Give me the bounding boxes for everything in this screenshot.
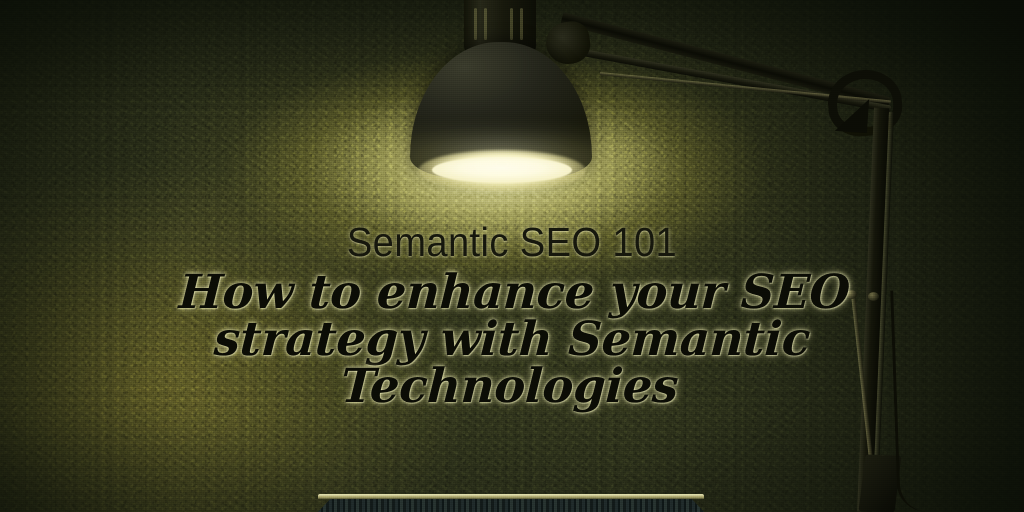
lamp-post-base [859, 454, 902, 512]
lamp-bulb [432, 157, 572, 183]
banner-text-block: Semantic SEO 101 How to enhance your SEO… [0, 218, 1024, 410]
lamp-neck-vent-2 [484, 8, 487, 40]
radiator [318, 494, 704, 512]
lamp-neck-vent-4 [520, 8, 523, 40]
banner-headline: How to enhance your SEO strategy with Se… [1, 269, 1022, 410]
radiator-fins [318, 499, 704, 512]
lamp-neck-vent-1 [474, 8, 477, 40]
seo-banner-image: Semantic SEO 101 How to enhance your SEO… [0, 0, 1024, 512]
banner-kicker: Semantic SEO 101 [36, 218, 988, 266]
banner-headline-line-1: How to enhance your SEO [6, 269, 1022, 316]
radiator-top-edge [318, 494, 704, 499]
lamp-neck-vent-3 [510, 8, 513, 40]
banner-headline-line-2: strategy with Semantic [4, 316, 1020, 363]
banner-headline-line-3: Technologies [1, 363, 1017, 410]
lamp-elbow-bracket [835, 97, 869, 133]
